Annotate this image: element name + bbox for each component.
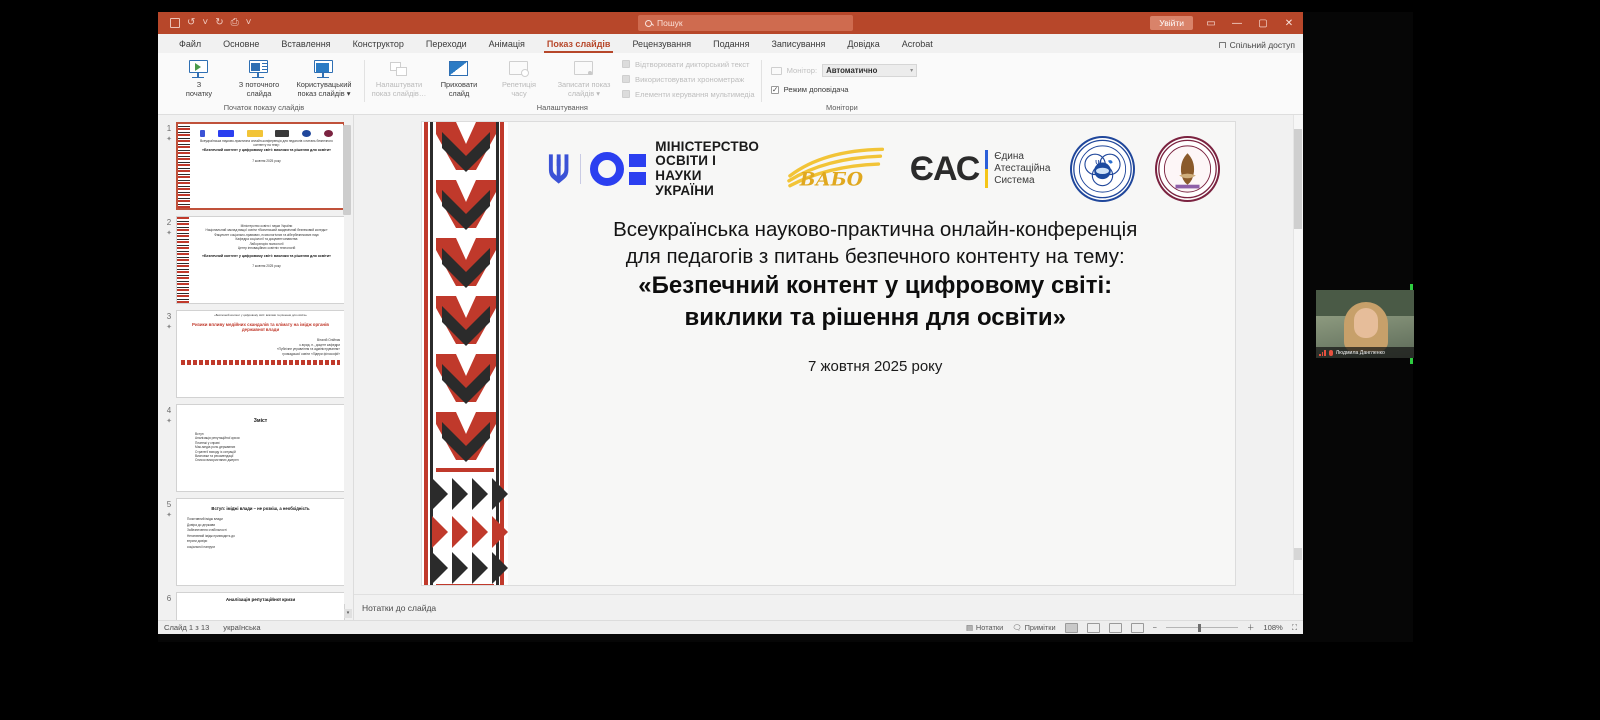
ribbon-display-options-icon[interactable]: ▭ [1203, 18, 1219, 29]
tab-home[interactable]: Основне [212, 39, 270, 53]
ornament-strip [177, 217, 189, 303]
quick-access-toolbar[interactable]: ↺ ˅ ↻ ⎙ ˅ [158, 18, 251, 28]
slide-date: 7 жовтня 2025 року [530, 334, 1220, 375]
status-bar-right: ▤ Нотатки 🗨 Примітки − ＋ [966, 622, 1297, 633]
slide-logo-row: МІНІСТЕРСТВО ОСВІТИ І НАУКИ УКРАЇНИ [530, 136, 1220, 202]
checkbox-play-narration-label: Відтворювати дикторський текст [635, 60, 749, 69]
tab-recording[interactable]: Записування [760, 39, 836, 53]
thumbnail-number: 3 ✦ [162, 310, 176, 331]
svg-text:Ψ: Ψ [1095, 158, 1102, 168]
close-button[interactable]: ✕ [1281, 18, 1297, 29]
thumbnail-logos [194, 127, 339, 139]
zoom-slider[interactable] [1166, 627, 1238, 629]
thumbnail-title: «Безпечний контент у цифровому світі: ви… [194, 148, 339, 153]
tab-file[interactable]: Файл [168, 39, 212, 53]
eas-line-1: Єдина [994, 151, 1050, 163]
thumbnail-number: 6 [162, 592, 176, 603]
checkbox-presenter-view[interactable]: Режим доповідача [771, 85, 917, 94]
thumbnail-number-label: 5 [167, 500, 171, 509]
academy-emblem [1155, 136, 1220, 202]
slide-title-big-2: виклики та рішення для освіти» [530, 302, 1220, 334]
slide-vertical-scrollbar[interactable] [1293, 115, 1303, 594]
thumbnail-number-label: 2 [167, 218, 171, 227]
hide-slide-button[interactable]: Приховатислайд [430, 56, 488, 98]
comments-toggle-label: Примітки [1025, 623, 1056, 632]
thumbnail-subtitle: Всеукраїнська науково-практична онлайн-к… [194, 139, 339, 148]
eas-line-3: Система [994, 175, 1050, 187]
group-title-setup: Налаштування [537, 103, 588, 113]
slide-content: МІНІСТЕРСТВО ОСВІТИ І НАУКИ УКРАЇНИ [508, 122, 1236, 585]
thumbnail-date: 7 жовтня 2025 року [194, 153, 339, 163]
ministry-line-1: МІНІСТЕРСТВО [655, 140, 763, 155]
sign-in-button[interactable]: Увійти [1150, 16, 1193, 30]
thumbnail-slide-4[interactable]: Зміст Вступ Аналізація репутаційної криз… [176, 404, 345, 492]
monitor-select[interactable]: Автоматично ▾ [822, 64, 917, 77]
desktop-screen: ↺ ˅ ↻ ⎙ ˅ Олійник презентація - PowerPoi… [0, 0, 1600, 720]
thumbnail-title: «Безпечний контент у цифровому світі: ви… [193, 250, 340, 259]
tab-slideshow[interactable]: Показ слайдів [536, 39, 622, 53]
rehearse-timings-label: Репетиціячасу [502, 81, 536, 98]
fit-to-window-button[interactable]: ⛶ [1292, 623, 1297, 633]
zoom-out-button[interactable]: − [1153, 623, 1157, 632]
thumbnail-number: 5 ✦ [162, 498, 176, 519]
scroll-down-arrow-icon[interactable]: ▾ [344, 609, 352, 618]
share-button[interactable]: Спільний доступ [1219, 40, 1295, 50]
chevron-down-icon: ▾ [910, 67, 913, 74]
tab-animations[interactable]: Анімація [478, 39, 536, 53]
ribbon-tab-bar: Файл Основне Вставлення Конструктор Пере… [158, 34, 1303, 53]
signal-strength-icon [1319, 349, 1326, 356]
record-slideshow-label: Записати показслайдів ▾ [558, 81, 611, 98]
restore-button[interactable]: ▢ [1255, 18, 1271, 29]
title-bar: ↺ ˅ ↻ ⎙ ˅ Олійник презентація - PowerPoi… [158, 12, 1303, 34]
custom-slideshow-button[interactable]: Користувацькийпоказ слайдів ▾ [290, 56, 358, 98]
scrollbar-thumb[interactable] [343, 125, 351, 215]
thumbnail-number-label: 1 [167, 124, 171, 133]
hide-slide-label: Приховатислайд [441, 81, 478, 98]
checkbox-icon [622, 75, 630, 83]
thumbnail-content: Всеукраїнська науково-практична онлайн-к… [190, 124, 343, 208]
tab-review[interactable]: Рецензування [621, 39, 702, 53]
notes-toggle-button[interactable]: ▤ Нотатки [966, 623, 1003, 632]
eas-logo: ЄАС Єдина Атестаційна Система [910, 150, 1051, 188]
thumbnail-number: 1 ✦ [162, 122, 176, 143]
embroidery-ornament [422, 122, 508, 585]
eas-flag-bar-icon [985, 150, 988, 188]
setup-slideshow-button[interactable]: Налаштуватипоказ слайдів… [370, 56, 428, 98]
checkbox-media-controls[interactable]: Елементи керування мультимедіа [622, 90, 755, 99]
slide-thumbnail-pane[interactable]: 1 ✦ [158, 115, 354, 620]
thumbnail-number: 2 ✦ [162, 216, 176, 237]
thumbnail-content: «Безпечний контент у цифровому світі: ви… [177, 311, 344, 397]
ministry-logo: МІНІСТЕРСТВО ОСВІТИ І НАУКИ УКРАЇНИ [546, 140, 764, 198]
list-item[interactable]: 6 Аналізація репутаційної кризи [158, 589, 353, 620]
animation-star-icon: ✦ [162, 135, 176, 143]
microphone-icon [1329, 350, 1333, 356]
checkbox-icon [771, 86, 779, 94]
zoom-level[interactable]: 108% [1263, 623, 1282, 632]
thumbnail-content: Міністерство освіти і науки України Наці… [189, 217, 344, 303]
thumbnail-slide-5[interactable]: Вступ: іміджі влади – не розкіш, а необх… [176, 498, 345, 586]
ministry-line-3: УКРАЇНИ [655, 184, 763, 199]
redo-icon[interactable]: ↻ [215, 18, 223, 28]
slide-title-line-2: для педагогів з питань безпечного контен… [530, 243, 1220, 270]
monitor-value: Автоматично [826, 66, 877, 75]
thumbnail-slide-6[interactable]: Аналізація репутаційної кризи [176, 592, 345, 620]
powerpoint-window: ↺ ˅ ↻ ⎙ ˅ Олійник презентація - PowerPoi… [158, 12, 1303, 634]
ornament-svg [422, 122, 508, 585]
thumbnail-content: Зміст Вступ Аналізація репутаційної криз… [177, 405, 344, 491]
share-icon [1219, 42, 1226, 48]
slide-editing-pane: МІНІСТЕРСТВО ОСВІТИ І НАУКИ УКРАЇНИ [354, 115, 1303, 620]
thumbnail-title: Ризики впливу медійних скандалів та клім… [181, 317, 340, 332]
checkbox-use-timings[interactable]: Використовувати хронометраж [622, 75, 755, 84]
list-item[interactable]: 1 ✦ [158, 119, 353, 213]
undo-dropdown-icon[interactable]: ˅ [202, 18, 208, 28]
minimize-button[interactable]: — [1229, 18, 1245, 29]
present-icon[interactable]: ⎙ [231, 18, 239, 28]
search-placeholder: Пошук [657, 18, 683, 28]
slide-counter[interactable]: Слайд 1 з 13 [164, 623, 209, 632]
slide-title-big-1: «Безпечний контент у цифровому світі: [530, 270, 1220, 302]
thumbnail-number-label: 4 [167, 406, 171, 415]
notes-placeholder: Нотатки до слайда [354, 603, 436, 613]
zoom-in-button[interactable]: ＋ [1247, 622, 1254, 633]
thumbnail-slide-2[interactable]: Міністерство освіти і науки України Наці… [176, 216, 345, 304]
checkbox-icon [622, 90, 630, 98]
from-beginning-label: Зпочатку [186, 81, 212, 98]
ribbon-group-monitors: Монітор: Автоматично ▾ Режим доповідача [761, 56, 923, 114]
hide-slide-icon [448, 59, 470, 79]
psychology-emblem: Ψ [1070, 136, 1135, 202]
comments-toggle-button[interactable]: 🗨 Примітки [1012, 623, 1055, 632]
view-sorter-button[interactable] [1087, 623, 1100, 633]
thumbnail-slide-3[interactable]: «Безпечний контент у цифровому світі: ви… [176, 310, 345, 398]
eas-abbr: ЄАС [910, 153, 979, 185]
ribbon-group-start-slideshow: Зпочатку З поточногослайда [164, 56, 364, 114]
ribbon: Зпочатку З поточногослайда [158, 53, 1303, 115]
group-title-start-slideshow: Початок показу слайдів [224, 103, 304, 113]
view-slideshow-button[interactable] [1131, 623, 1144, 633]
customize-qat-icon[interactable]: ˅ [246, 18, 252, 28]
list-item[interactable]: 4 ✦ Зміст Вступ Аналізація репутаційної … [158, 401, 353, 495]
work-area: 1 ✦ [158, 115, 1303, 620]
monitor-row: Монітор: Автоматично ▾ [771, 64, 917, 77]
undo-icon[interactable]: ↺ [187, 18, 195, 28]
list-item[interactable]: 3 ✦ «Безпечний контент у цифровому світі… [158, 307, 353, 401]
tab-insert[interactable]: Вставлення [270, 39, 341, 53]
eas-line-2: Атестаційна [994, 163, 1050, 175]
record-show-icon [573, 59, 595, 79]
monitor-icon [771, 67, 782, 75]
list-item[interactable]: 2 ✦ Міністерство освіти і науки України … [158, 213, 353, 307]
zoom-slider-knob[interactable] [1198, 624, 1201, 632]
scrollbar-thumb[interactable] [1294, 129, 1302, 229]
mon-mark-icon [590, 152, 646, 186]
checkbox-use-timings-label: Використовувати хронометраж [635, 75, 744, 84]
thumbnail-scrollbar[interactable] [344, 119, 352, 604]
thumbnail-slide-1[interactable]: Всеукраїнська науково-практична онлайн-к… [176, 122, 345, 210]
play-screen-icon [188, 59, 210, 79]
participant-name-bar: Людмила Дангленко [1316, 347, 1414, 358]
ornament-footer [181, 360, 340, 365]
trident-icon [546, 152, 571, 186]
search-icon [645, 20, 652, 27]
tab-help[interactable]: Довідка [836, 39, 890, 53]
save-icon[interactable] [170, 18, 180, 28]
animation-star-icon: ✦ [162, 511, 176, 519]
thumbnail-subtitle: Позитивний імідж влади Довіра до держави… [181, 511, 340, 551]
notes-icon: ▤ [966, 623, 973, 632]
list-item[interactable]: 5 ✦ Вступ: іміджі влади – не розкіш, а н… [158, 495, 353, 589]
rehearse-timings-button[interactable]: Репетиціячасу [490, 56, 548, 98]
window-controls: Увійти ▭ — ▢ ✕ [1150, 12, 1297, 34]
setup-slideshow-label: Налаштуватипоказ слайдів… [372, 81, 427, 98]
view-normal-button[interactable] [1065, 623, 1078, 633]
tab-design[interactable]: Конструктор [342, 39, 415, 53]
ministry-line-2: ОСВІТИ І НАУКИ [655, 154, 763, 183]
thumbnail-subtitle: Віталій Олійник к.юрид. н., доцент кафед… [181, 332, 340, 356]
from-beginning-button[interactable]: Зпочатку [170, 56, 228, 98]
from-current-slide-label: З поточногослайда [239, 81, 279, 98]
thumbnail-content: Аналізація репутаційної кризи [177, 593, 344, 620]
checkbox-play-narration[interactable]: Відтворювати дикторський текст [622, 60, 755, 69]
eas-logo-text: Єдина Атестаційна Система [994, 151, 1050, 187]
checkbox-media-controls-label: Елементи керування мультимедіа [635, 90, 755, 99]
thumbnail-number-label: 3 [167, 312, 171, 321]
thumbnail-date: 7 жовтня 2025 року [193, 259, 340, 268]
participant-face [1354, 308, 1378, 338]
tab-acrobat[interactable]: Acrobat [891, 39, 944, 53]
thumbnail-title: Аналізація репутаційної кризи [181, 597, 340, 602]
language-indicator[interactable]: українська [223, 623, 260, 632]
group-title-monitors: Монітори [826, 103, 858, 113]
video-call-stage: ↺ ˅ ↻ ⎙ ˅ Олійник презентація - PowerPoi… [158, 12, 1413, 642]
slideshow-options: Відтворювати дикторський текст Використо… [620, 56, 755, 102]
thumbnail-number-label: 6 [167, 594, 171, 603]
notes-toggle-label: Нотатки [976, 623, 1003, 632]
animation-star-icon: ✦ [162, 323, 176, 331]
slide-title-block: Всеукраїнська науково-практична онлайн-к… [530, 202, 1220, 375]
ribbon-group-setup: Налаштуватипоказ слайдів… Приховатислайд [364, 56, 761, 114]
ministry-logo-text: МІНІСТЕРСТВО ОСВІТИ І НАУКИ УКРАЇНИ [655, 140, 763, 198]
monitor-controls: Монітор: Автоматично ▾ Режим доповідача [767, 56, 917, 102]
animation-star-icon: ✦ [162, 229, 176, 237]
vabo-logo: ВАБО [784, 146, 890, 192]
thumbnail-subtitle: Міністерство освіти і науки України Наці… [193, 220, 340, 250]
from-current-slide-button[interactable]: З поточногослайда [230, 56, 288, 98]
notes-pane[interactable]: Нотатки до слайда [354, 594, 1303, 620]
status-bar: Слайд 1 з 13 українська ▤ Нотатки 🗨 Прим… [158, 620, 1303, 634]
logo-divider [580, 154, 581, 184]
share-label: Спільний доступ [1230, 40, 1295, 50]
custom-show-icon [313, 59, 335, 79]
tab-transitions[interactable]: Переходи [415, 39, 478, 53]
checkbox-icon [622, 60, 630, 68]
scroll-split-handle[interactable] [1294, 548, 1302, 560]
thumbnail-number: 4 ✦ [162, 404, 176, 425]
checkbox-presenter-view-label: Режим доповідача [784, 85, 849, 94]
setup-show-icon [388, 59, 410, 79]
thumbnail-subtitle: Вступ Аналізація репутаційної кризи Плат… [181, 424, 340, 463]
tab-view[interactable]: Подання [702, 39, 760, 53]
vabo-logo-text: ВАБО [798, 169, 863, 191]
current-slide[interactable]: МІНІСТЕРСТВО ОСВІТИ І НАУКИ УКРАЇНИ [421, 121, 1236, 586]
mon-circle-icon [590, 152, 624, 186]
mon-squares-icon [629, 154, 646, 185]
comment-icon: 🗨 [1012, 623, 1021, 632]
rehearse-timings-icon [508, 59, 530, 79]
thumbnail-content: Вступ: іміджі влади – не розкіш, а необх… [177, 499, 344, 585]
participant-name: Людмила Дангленко [1336, 350, 1385, 356]
monitor-label: Монітор: [787, 66, 817, 75]
animation-star-icon: ✦ [162, 417, 176, 425]
current-slide-icon [248, 59, 270, 79]
ornament-strip [178, 124, 190, 208]
custom-slideshow-label: Користувацькийпоказ слайдів ▾ [296, 81, 351, 98]
participant-video-tile[interactable]: Людмила Дангленко [1316, 290, 1414, 358]
record-slideshow-button[interactable]: Записати показслайдів ▾ [550, 56, 618, 98]
slide-title-line-1: Всеукраїнська науково-практична онлайн-к… [530, 216, 1220, 243]
view-reading-button[interactable] [1109, 623, 1122, 633]
search-box[interactable]: Пошук [638, 15, 853, 31]
